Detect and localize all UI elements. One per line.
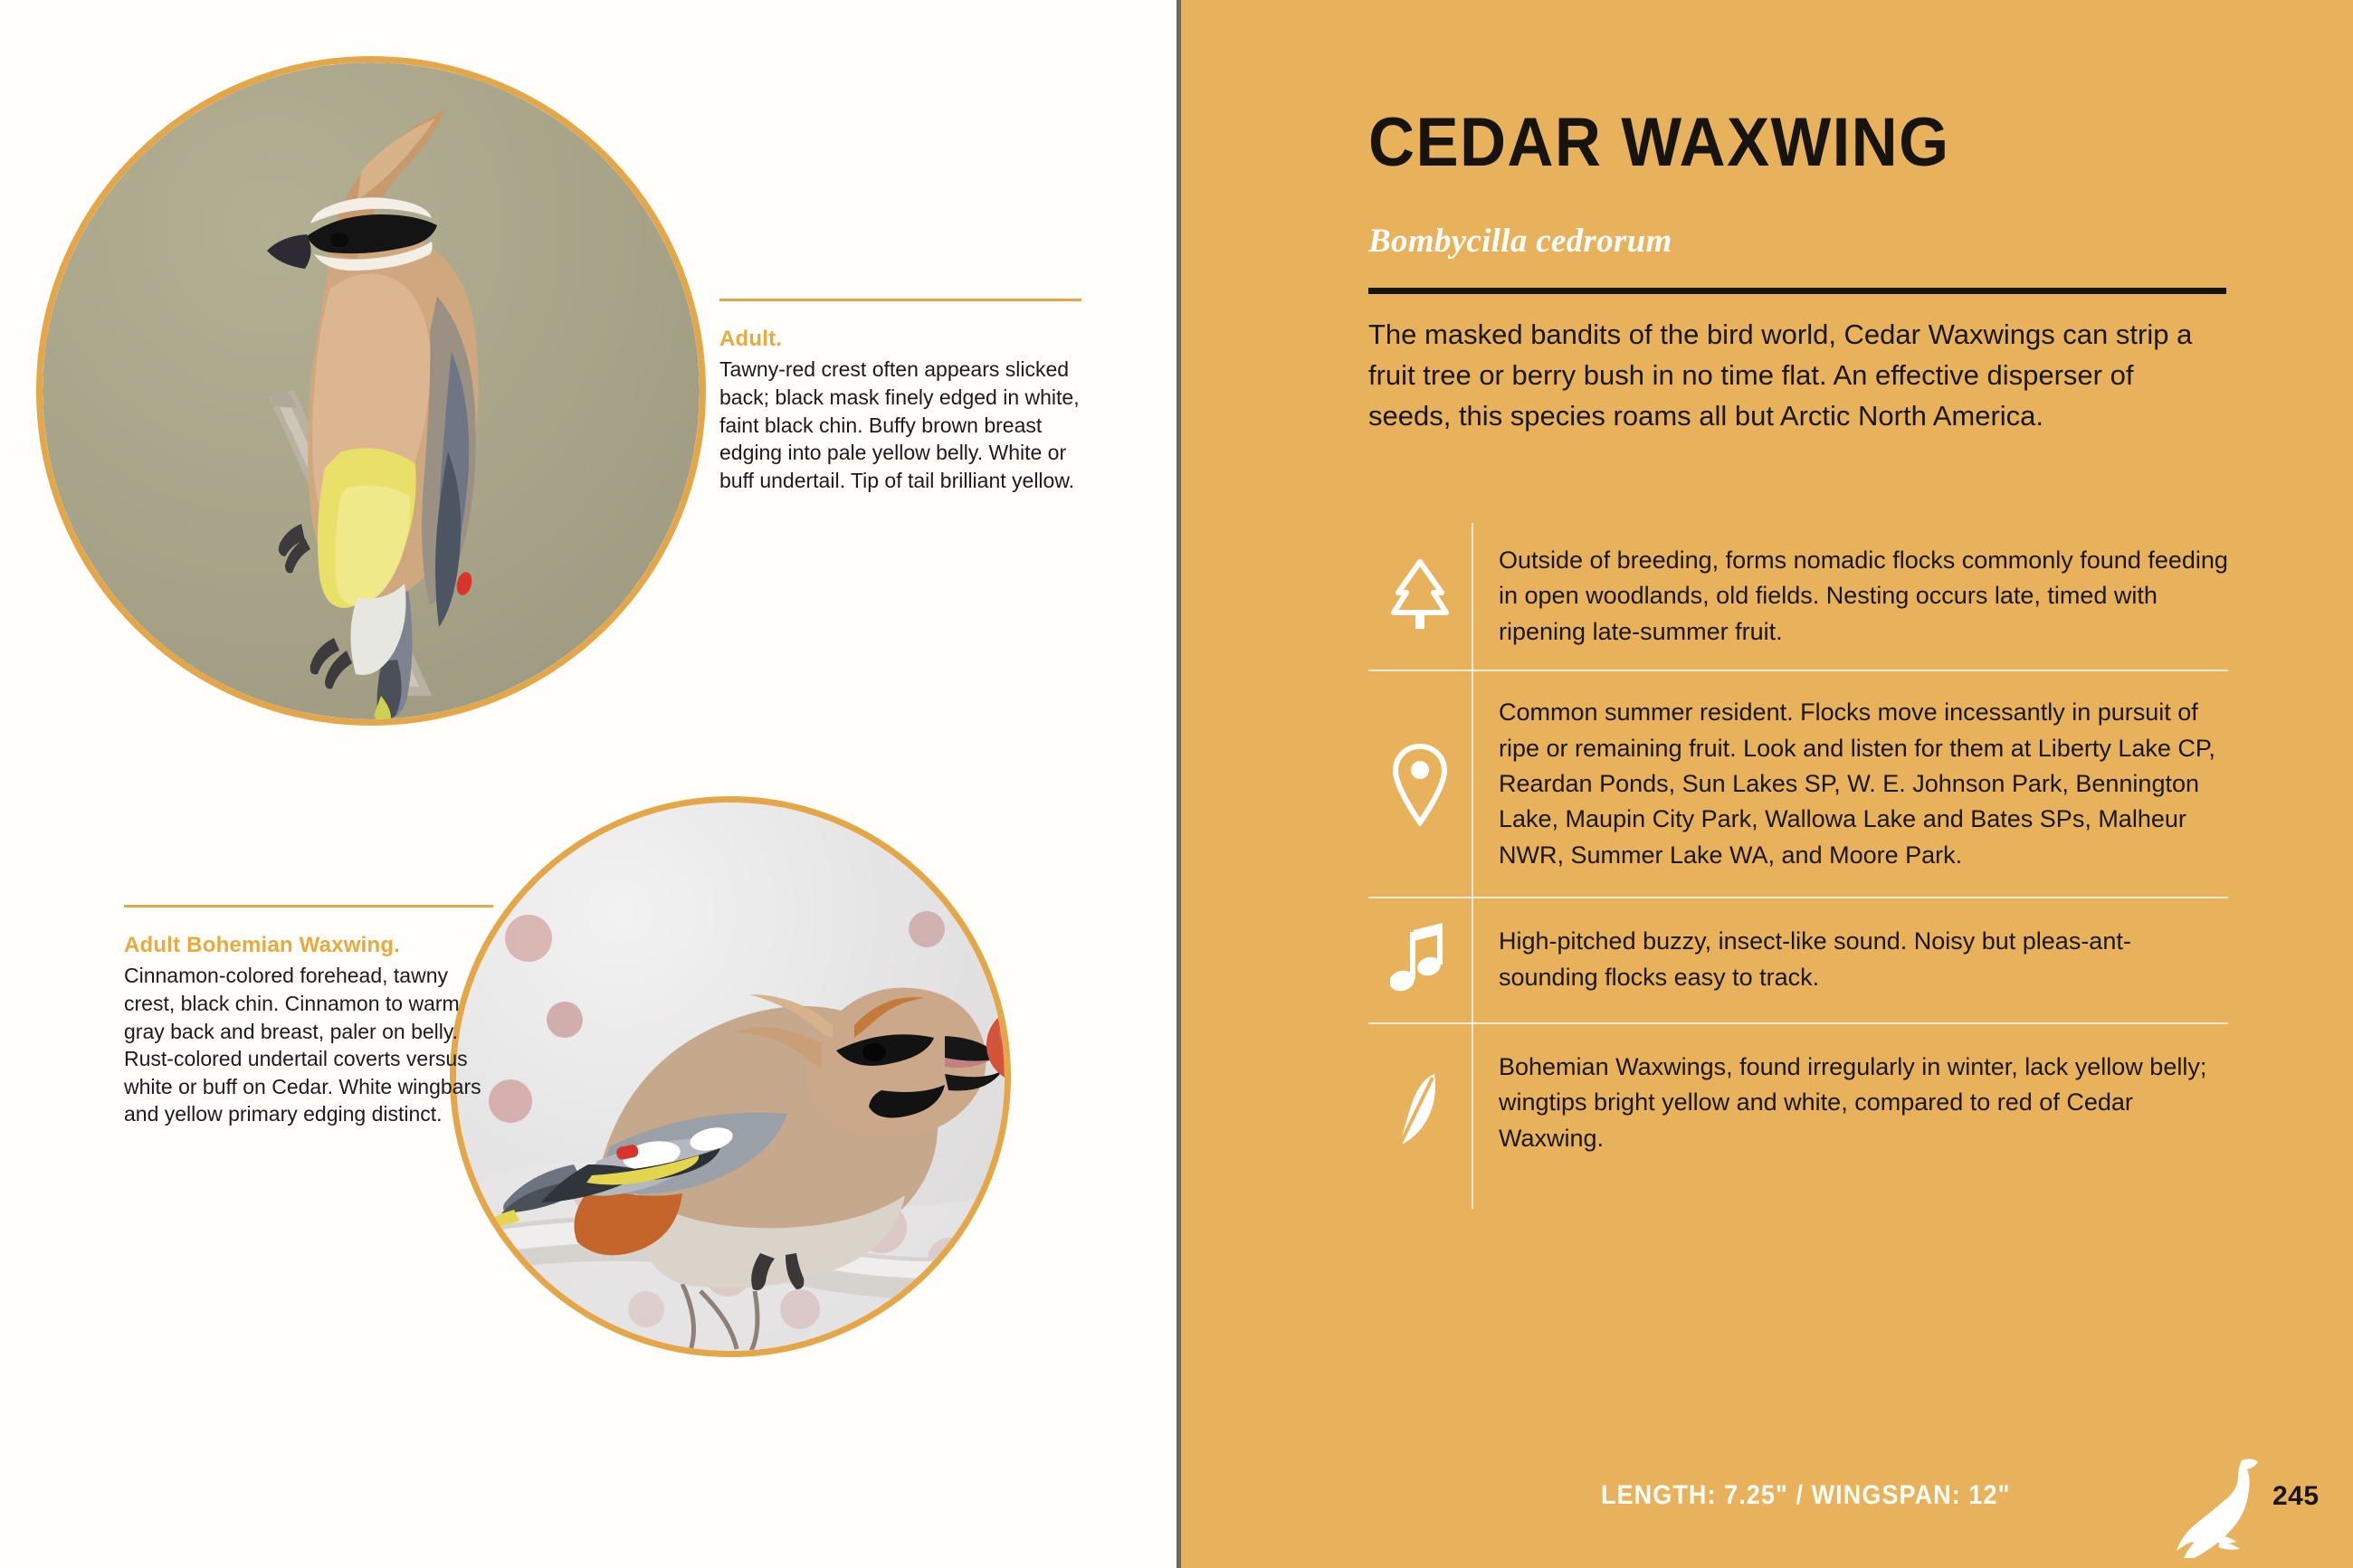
perched-waxwing-silhouette-icon [2177, 1451, 2263, 1563]
caption-bohemian-title: Adult Bohemian Waxwing. [124, 931, 500, 960]
map-pin-icon [1368, 743, 1472, 826]
scientific-name: Bombycilla cedrorum [1368, 222, 1672, 261]
intro-paragraph: The masked bandits of the bird world, Ce… [1368, 315, 2215, 437]
fact-row-sound: High-pitched buzzy, insect-like sound. N… [1368, 897, 2228, 1022]
caption-rule [719, 299, 1081, 301]
page-number: 245 [2272, 1481, 2320, 1512]
fact-text-sound: High-pitched buzzy, insect-like sound. N… [1472, 898, 2228, 1022]
caption-rule [124, 905, 493, 908]
caption-adult-title: Adult. [719, 325, 1086, 354]
species-title: CEDAR WAXWING [1368, 109, 1949, 177]
caption-adult: Adult. Tawny-red crest often appears sli… [719, 299, 1086, 494]
feather-icon [1368, 1070, 1472, 1157]
facts-list: Outside of breeding, forms nomadic flock… [1368, 523, 2228, 1203]
fact-row-habitat: Outside of breeding, forms nomadic flock… [1368, 523, 2228, 670]
caption-bohemian: Adult Bohemian Waxwing. Cinnamon-colored… [124, 905, 500, 1128]
right-info-page: CEDAR WAXWING Bombycilla cedrorum The ma… [1181, 0, 2353, 1568]
page-footer: LENGTH: 7.25" / WINGSPAN: 12" 245 [1181, 1480, 2353, 1535]
fact-row-similar-species: Bohemian Waxwings, found irregularly in … [1368, 1022, 2228, 1203]
fact-row-locations: Common summer resident. Flocks move ince… [1368, 670, 2228, 897]
caption-bohemian-body: Cinnamon-colored forehead, tawny crest, … [124, 962, 500, 1127]
fact-text-habitat: Outside of breeding, forms nomadic flock… [1472, 523, 2228, 670]
adult-cedar-waxwing-photo [36, 56, 706, 726]
caption-adult-body: Tawny-red crest often appears slicked ba… [719, 356, 1086, 494]
field-guide-spread: Adult. Tawny-red crest often appears sli… [0, 0, 2353, 1568]
fact-text-locations: Common summer resident. Flocks move ince… [1472, 671, 2228, 897]
fact-text-similar-species: Bohemian Waxwings, found irregularly in … [1472, 1024, 2228, 1203]
music-note-icon [1368, 923, 1472, 999]
bohemian-waxwing-photo [450, 796, 1011, 1357]
left-plate-page: Adult. Tawny-red crest often appears sli… [0, 0, 1176, 1568]
conifer-tree-icon [1368, 556, 1472, 636]
measurements-label: LENGTH: 7.25" / WINGSPAN: 12" [1601, 1480, 2010, 1511]
title-underline [1368, 288, 2226, 294]
